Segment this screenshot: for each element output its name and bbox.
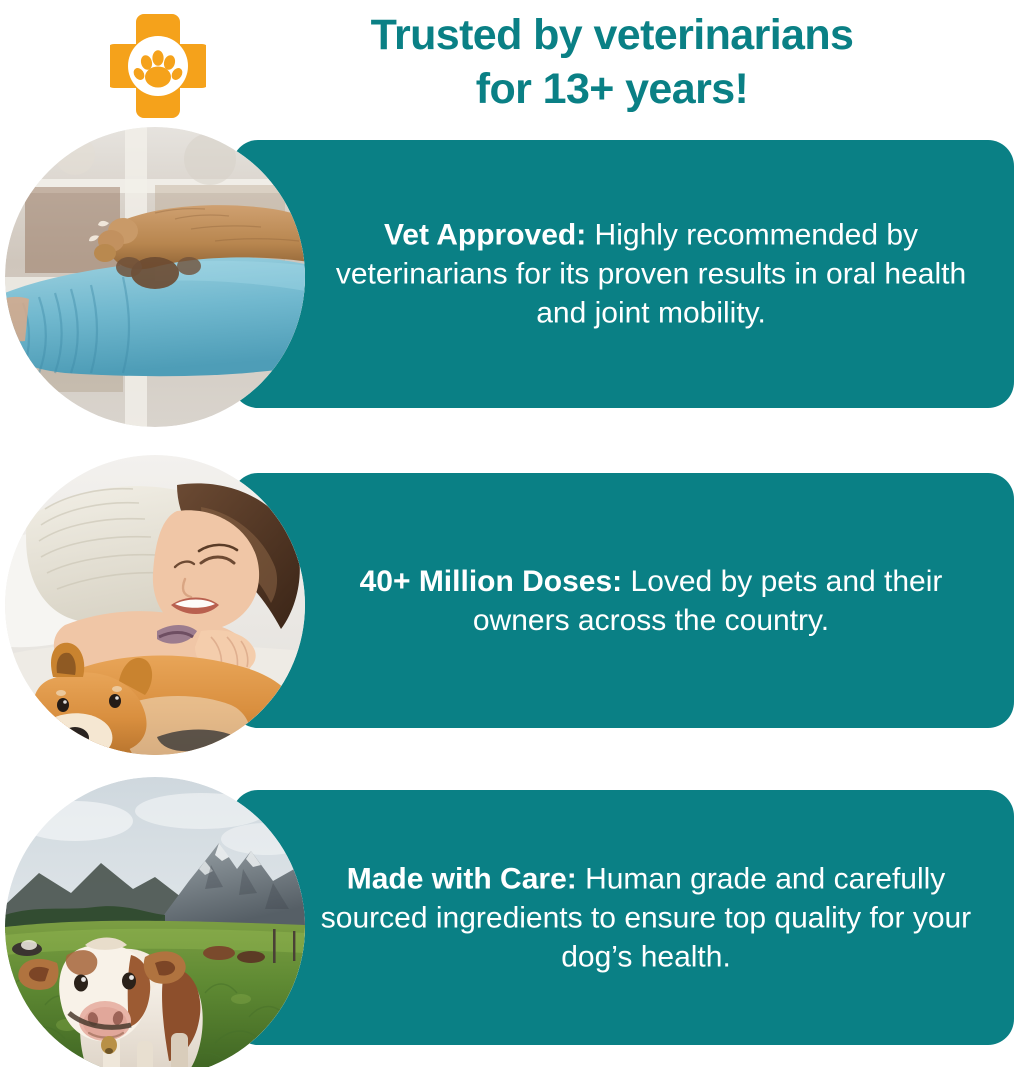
woman-cuddling-shiba-inu-photo xyxy=(5,455,305,755)
page-title: Trusted by veterinarians for 13+ years! xyxy=(232,8,992,116)
feature-card-doses: 40+ Million Doses: Loved by pets and the… xyxy=(232,473,1014,728)
header: Trusted by veterinarians for 13+ years! xyxy=(0,0,1024,140)
cow-in-alpine-pasture-photo xyxy=(5,777,305,1067)
feature-card-vet-approved: Vet Approved: Highly recommended by vete… xyxy=(232,140,1014,408)
feature-heading: Vet Approved: xyxy=(384,219,586,252)
infographic-page: Trusted by veterinarians for 13+ years! … xyxy=(0,0,1024,1067)
veterinary-cross-paw-icon xyxy=(110,12,206,120)
feature-text: Vet Approved: Highly recommended by vete… xyxy=(310,216,992,333)
feature-text: Made with Care: Human grade and carefull… xyxy=(296,859,996,976)
page-title-line-1: Trusted by veterinarians xyxy=(232,8,992,62)
feature-card-made-with-care: Made with Care: Human grade and carefull… xyxy=(232,790,1014,1045)
gloved-hand-holding-dog-paw-photo xyxy=(5,127,305,427)
feature-text: 40+ Million Doses: Loved by pets and the… xyxy=(310,562,992,640)
feature-heading: Made with Care: xyxy=(347,862,577,895)
page-title-line-2: for 13+ years! xyxy=(232,62,992,116)
feature-heading: 40+ Million Doses: xyxy=(360,565,623,598)
